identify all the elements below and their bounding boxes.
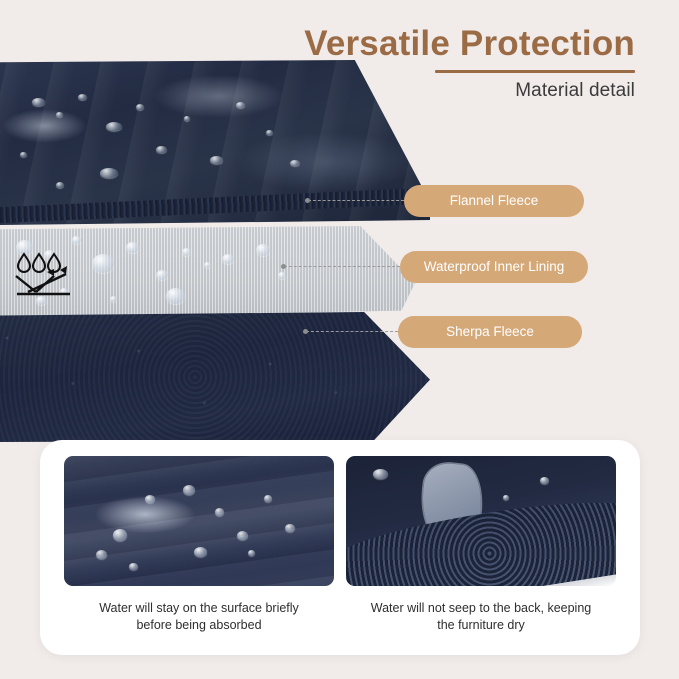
water-repellent-icon bbox=[14, 250, 76, 298]
pill-label-flannel-fleece[interactable]: Flannel Fleece bbox=[404, 185, 584, 217]
material-layer-stack bbox=[0, 60, 420, 410]
water-droplet bbox=[264, 495, 272, 502]
water-droplet bbox=[373, 469, 388, 479]
water-droplet bbox=[194, 547, 207, 557]
demo-panel-no-seepage: Water will not seep to the back, keeping… bbox=[340, 456, 622, 645]
page-title: Versatile Protection bbox=[304, 24, 635, 63]
water-droplet bbox=[215, 508, 224, 516]
water-droplet bbox=[248, 550, 255, 556]
demo-panel-surface-beading: Water will stay on the surface briefly b… bbox=[58, 456, 340, 645]
leader-line-flannel bbox=[308, 200, 404, 201]
infographic-canvas: Versatile Protection Material detail bbox=[0, 0, 679, 679]
water-droplet bbox=[285, 524, 295, 532]
title-underline-rule bbox=[435, 70, 635, 73]
header-block: Versatile Protection Material detail bbox=[304, 24, 635, 102]
caption-surface-beading: Water will stay on the surface briefly b… bbox=[99, 600, 299, 634]
water-droplet bbox=[503, 495, 509, 500]
pill-label-waterproof-inner-lining[interactable]: Waterproof Inner Lining bbox=[400, 251, 588, 283]
photo-water-beading-on-flannel bbox=[64, 456, 334, 586]
leader-line-lining bbox=[284, 266, 400, 267]
sherpa-edge-band bbox=[346, 489, 616, 586]
water-droplet bbox=[183, 485, 195, 495]
callout-waterproof-lining: Waterproof Inner Lining bbox=[284, 251, 588, 283]
water-droplet bbox=[237, 531, 248, 540]
demonstration-card: Water will stay on the surface briefly b… bbox=[40, 440, 640, 655]
water-droplet bbox=[540, 477, 549, 484]
water-droplet bbox=[113, 529, 127, 541]
pill-label-sherpa-fleece[interactable]: Sherpa Fleece bbox=[398, 316, 582, 348]
caption-no-seepage: Water will not seep to the back, keeping… bbox=[371, 600, 592, 634]
photo-no-seepage-to-sherpa-back bbox=[346, 456, 616, 586]
page-subtitle: Material detail bbox=[304, 80, 635, 102]
water-droplet bbox=[96, 550, 107, 559]
water-droplet bbox=[129, 563, 138, 570]
water-droplet bbox=[145, 495, 155, 503]
leader-line-sherpa bbox=[306, 331, 398, 332]
callout-flannel-fleece: Flannel Fleece bbox=[308, 185, 584, 217]
callout-sherpa-fleece: Sherpa Fleece bbox=[306, 316, 582, 348]
